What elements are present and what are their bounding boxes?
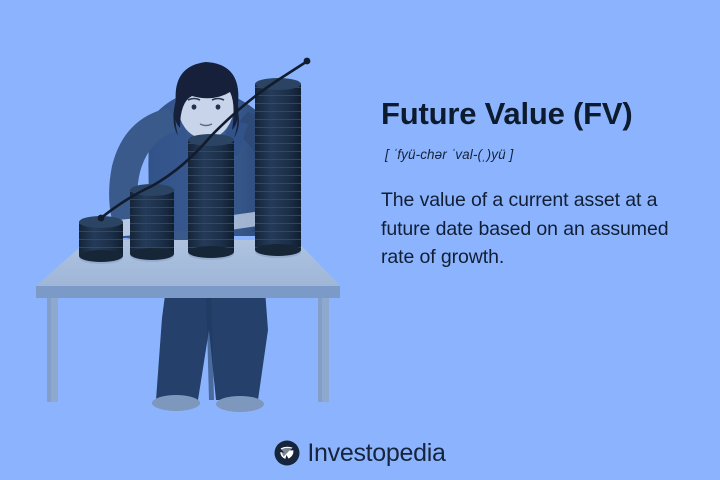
pronunciation-text: [ ˈfyü-chər ˈval-(ˌ)yü ]	[385, 146, 697, 164]
definition-text-column: Future Value (FV) [ ˈfyü-chər ˈval-(ˌ)yü…	[381, 96, 697, 272]
future-value-definition-card: Future Value (FV) [ ˈfyü-chər ˈval-(ˌ)yü…	[0, 0, 720, 480]
coin-stack-3-ridges	[188, 140, 234, 252]
coin-stack-3-base	[188, 246, 234, 258]
page-title: Future Value (FV)	[381, 96, 697, 132]
brand-wordmark: Investopedia	[307, 441, 445, 466]
investopedia-circle-swoosh-icon	[274, 440, 300, 466]
desk-leg-right-shade	[318, 298, 322, 402]
woman-eye-left	[192, 104, 197, 109]
growth-arrow-head	[304, 58, 311, 65]
desk-leg-left-shade	[47, 298, 51, 402]
coin-stack-4	[255, 78, 301, 258]
coin-stack-1	[79, 216, 123, 264]
coin-stack-2	[130, 184, 174, 262]
woman-eye-right	[216, 104, 221, 109]
woman-shoe-right	[216, 396, 264, 412]
coin-stack-2-base	[130, 248, 174, 260]
coin-stack-2-ridges	[130, 190, 174, 254]
coin-stack-1-base	[79, 250, 123, 262]
desk-edge	[36, 286, 340, 298]
growth-arrow-origin	[98, 215, 105, 222]
definition-text: The value of a current asset at a future…	[381, 186, 697, 272]
coin-stack-4-ridges	[255, 84, 301, 250]
footer-brand: Investopedia	[0, 440, 720, 466]
woman-shoe-left	[152, 395, 200, 411]
coin-stack-4-base	[255, 244, 301, 256]
